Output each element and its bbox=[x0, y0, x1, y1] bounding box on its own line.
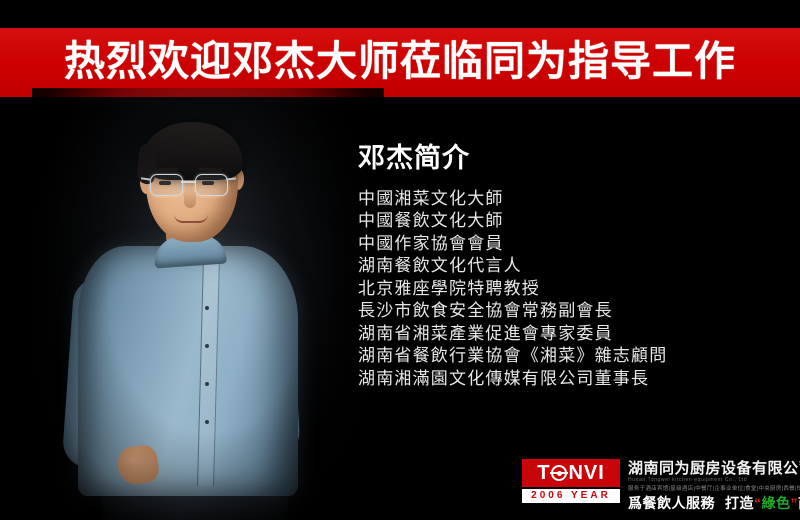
slide-canvas: 热烈欢迎邓杰大师莅临同为指导工作 邓杰简介 bbox=[0, 0, 800, 520]
bio-credential-list: 中國湘菜文化大師 中國餐飲文化大師 中國作家協會會員 湖南餐飲文化代言人 北京雅… bbox=[358, 188, 758, 391]
tagline-highlight: 綠色 bbox=[762, 495, 791, 511]
bio-credential-item: 北京雅座學院特聘教授 bbox=[358, 278, 758, 301]
tonvi-logo-mark: T NVI 2006 YEAR bbox=[522, 459, 620, 503]
portrait-shirt-button bbox=[205, 306, 209, 310]
glasses-lens-right-icon bbox=[195, 174, 228, 196]
bio-credential-item: 湖南省湘菜產業促進會專家委員 bbox=[358, 323, 758, 346]
bio-credential-item: 長沙市飲食安全協會常務副會長 bbox=[358, 300, 758, 323]
logo-red-box: T NVI bbox=[522, 459, 620, 487]
company-logo-lockup: T NVI 2006 YEAR 湖南同为厨房设备有限公司 Hunan Tongw… bbox=[522, 459, 800, 512]
portrait-shirt-button bbox=[205, 420, 209, 424]
glasses-bridge-icon bbox=[181, 181, 195, 183]
logo-wordmark: T NVI bbox=[537, 463, 605, 483]
tagline-quote-close: ” bbox=[791, 495, 799, 511]
portrait-nose bbox=[184, 188, 196, 208]
company-tagline: 爲餐飲人服務打造“綠色”商厨餐飲 bbox=[628, 495, 800, 512]
portrait-shirt bbox=[78, 246, 298, 496]
logo-wordmark-prefix: T bbox=[537, 463, 550, 483]
company-name-cn: 湖南同为厨房设备有限公司 bbox=[628, 460, 800, 477]
company-description-cn: 服务于酒店宾馆|星级酒店|中餐厅|企事业单位|食堂|中央厨房|西餐|快餐连锁等领… bbox=[628, 485, 800, 493]
logo-year-text: 2006 YEAR bbox=[531, 491, 611, 501]
glasses-lens-left-icon bbox=[150, 174, 183, 196]
portrait-photo bbox=[62, 108, 354, 520]
bio-credential-item: 中國作家協會會員 bbox=[358, 233, 758, 256]
bio-credential-item: 中國餐飲文化大師 bbox=[358, 210, 758, 233]
logo-year-strip: 2006 YEAR bbox=[522, 489, 620, 503]
company-name-en: Hunan Tongwei kitchen equipment Co., Ltd bbox=[628, 477, 800, 485]
company-text-block: 湖南同为厨房设备有限公司 Hunan Tongwei kitchen equip… bbox=[628, 459, 800, 512]
banner-title: 热烈欢迎邓杰大师莅临同为指导工作 bbox=[64, 41, 736, 82]
bio-credential-item: 中國湘菜文化大師 bbox=[358, 188, 758, 211]
tagline-part-2: 打造 bbox=[725, 495, 754, 511]
bio-credential-item: 湖南省餐飲行業協會《湘菜》雜志顧問 bbox=[358, 345, 758, 368]
tagline-quote-open: “ bbox=[754, 495, 762, 511]
title-banner: 热烈欢迎邓杰大师莅临同为指导工作 bbox=[0, 28, 800, 97]
target-icon bbox=[551, 465, 567, 481]
portrait-mouth bbox=[174, 214, 208, 223]
bio-credential-item: 湖南湘滿園文化傳媒有限公司董事長 bbox=[358, 368, 758, 391]
tagline-part-1: 爲餐飲人服務 bbox=[628, 495, 715, 511]
bio-credential-item: 湖南餐飲文化代言人 bbox=[358, 255, 758, 278]
bio-heading: 邓杰简介 bbox=[358, 144, 758, 174]
bio-panel: 邓杰简介 中國湘菜文化大師 中國餐飲文化大師 中國作家協會會員 湖南餐飲文化代言… bbox=[358, 144, 758, 390]
portrait-shirt-button bbox=[205, 382, 209, 386]
logo-wordmark-suffix: NVI bbox=[568, 463, 604, 483]
portrait-shirt-button bbox=[205, 344, 209, 348]
